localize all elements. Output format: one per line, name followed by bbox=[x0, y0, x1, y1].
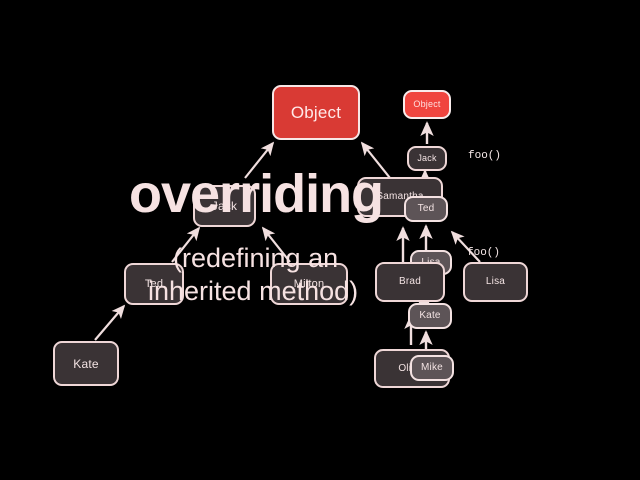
node-label: Kate bbox=[419, 311, 440, 321]
node-brad-right[interactable]: Brad bbox=[375, 262, 445, 302]
node-label: Kate bbox=[73, 358, 99, 370]
node-label: Object bbox=[413, 100, 440, 109]
subline-inherited-method: inherited method) bbox=[148, 278, 358, 305]
node-jack-right[interactable]: Jack bbox=[407, 146, 447, 171]
arrow-layer bbox=[0, 0, 640, 480]
node-label: Jack bbox=[417, 154, 436, 163]
node-object-right[interactable]: Object bbox=[403, 90, 451, 119]
node-label: Mike bbox=[421, 363, 443, 373]
headline-overriding: overriding bbox=[129, 167, 383, 221]
slide-canvas: Object Jack Ted Milton Kate Object Jack … bbox=[0, 0, 640, 480]
node-object-left[interactable]: Object bbox=[272, 85, 360, 140]
node-label: Ted bbox=[418, 204, 435, 214]
subline-redefining: (redefining an bbox=[173, 245, 338, 272]
arrow-left-kate-to-ted bbox=[95, 306, 124, 340]
node-mike-right[interactable]: Mike bbox=[410, 355, 454, 381]
node-label: Lisa bbox=[486, 277, 505, 287]
node-label: Brad bbox=[399, 277, 421, 287]
node-kate-left[interactable]: Kate bbox=[53, 341, 119, 386]
node-ted-right[interactable]: Ted bbox=[404, 196, 448, 222]
method-label-foo-lisa: foo() bbox=[467, 247, 500, 259]
node-lisa-right[interactable]: Lisa bbox=[463, 262, 528, 302]
method-label-foo-jack: foo() bbox=[468, 150, 501, 162]
node-kate-right[interactable]: Kate bbox=[408, 303, 452, 329]
node-label: Object bbox=[291, 104, 341, 121]
